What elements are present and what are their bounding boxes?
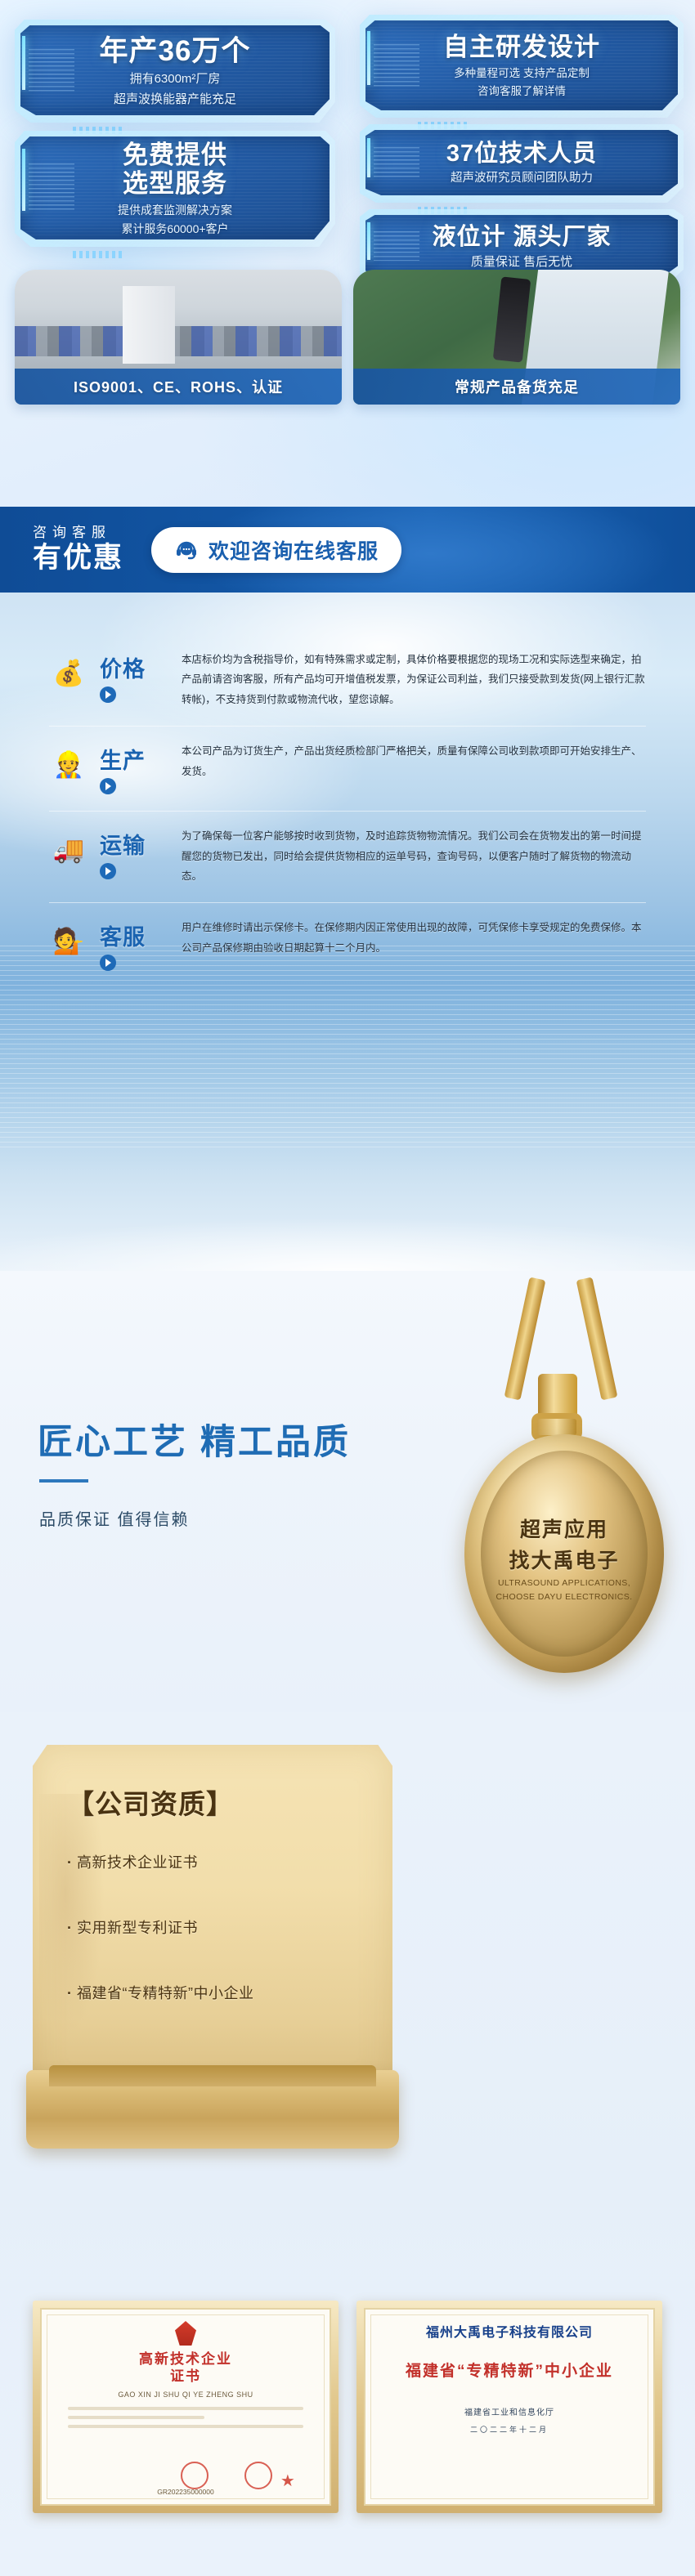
card-subtitle-2: 咨询客服了解详情 <box>478 84 566 99</box>
card-subtitle-1: 拥有6300m²厂房 <box>130 71 221 87</box>
faq-title-block: 运输 <box>100 826 170 879</box>
factory-photo-stock: 常规产品备货充足 <box>353 270 680 405</box>
quality-section: 匠心工艺 精工品质 品质保证 值得信赖 超声应用 找大禹电子 ULTRASOUN… <box>0 1271 695 1712</box>
medal-line-4: CHOOSE DAYU ELECTRONICS. <box>496 1592 633 1602</box>
card-subtitle-2: 累计服务60000+客户 <box>121 221 228 236</box>
faq-body: 为了确保每一位客户能够按时收到货物，及时追踪货物物流情况。我们公司会在货物发出的… <box>182 826 646 886</box>
qualifications-section: 【公司资质】 高新技术企业证书 实用新型专利证书 福建省“专精特新”中小企业 高… <box>0 1712 695 2576</box>
medal-disc: 超声应用 找大禹电子 ULTRASOUND APPLICATIONS, CHOO… <box>464 1434 664 1673</box>
certificate-subtitle: GAO XIN JI SHU QI YE ZHENG SHU <box>118 2390 253 2399</box>
factory-photo-row: ISO9001、CE、ROHS、认证 常规产品备货充足 <box>15 270 680 405</box>
certificate-award-name: 福建省“专精特新”中小企业 <box>406 2359 613 2381</box>
banner-line-2: 有优惠 <box>33 543 123 574</box>
card-title: 年产36万个 <box>100 35 251 67</box>
faq-title-block: 价格 <box>100 650 170 703</box>
customer-service-agent-icon: 💁 <box>49 921 88 960</box>
certificate-title: 高新技术企业 <box>139 2350 232 2368</box>
medal-line-3: ULTRASOUND APPLICATIONS, <box>498 1578 630 1588</box>
faq-body: 本店标价均为含税指导价，如有特殊需求或定制，具体价格要根据您的现场工况和实际选型… <box>182 650 646 709</box>
certificate-stamp-icon <box>181 2462 208 2489</box>
quality-heading: 匠心工艺 精工品质 <box>38 1414 351 1465</box>
factory-photo-certification: ISO9001、CE、ROHS、认证 <box>15 270 342 405</box>
certificate-high-tech: 高新技术企业 证书 GAO XIN JI SHU QI YE ZHENG SHU… <box>33 2301 339 2513</box>
production-worker-icon: 👷 <box>49 745 88 784</box>
highlight-card-technical-staff: 37位技术人员 超声波研究员顾问团队助力 <box>360 124 684 203</box>
photo-caption: 常规产品备货充足 <box>353 369 680 405</box>
card-subtitle-2: 超声波换能器产能充足 <box>114 92 236 108</box>
shopping-info-section: 💰 价格 本店标价均为含税指导价，如有特殊需求或定制，具体价格要根据您的现场工况… <box>0 593 695 1271</box>
card-title: 免费提供 <box>123 141 227 170</box>
play-arrow-icon <box>100 686 116 703</box>
card-title: 自主研发设计 <box>443 34 600 62</box>
certificate-issuer: 福建省工业和信息化厅 <box>464 2405 554 2417</box>
card-title-line2: 选型服务 <box>123 170 227 199</box>
faq-title-block: 客服 <box>100 918 170 971</box>
money-bag-icon: 💰 <box>49 653 88 692</box>
medal-line-2: 找大禹电子 <box>509 1545 619 1574</box>
gold-medal-graphic: 超声应用 找大禹电子 ULTRASOUND APPLICATIONS, CHOO… <box>442 1277 687 1661</box>
certificate-org-name: 福州大禹电子科技有限公司 <box>426 2321 593 2341</box>
highlights-section: 年产36万个 拥有6300m²厂房 超声波换能器产能充足 自主研发设计 多种量程… <box>0 0 695 507</box>
certificate-emblem-icon <box>175 2321 196 2346</box>
play-arrow-icon <box>100 863 116 879</box>
play-arrow-icon <box>100 955 116 971</box>
certificate-date: 二〇二二年十二月 <box>470 2424 549 2435</box>
quality-subheading: 品质保证 值得信赖 <box>39 1506 190 1530</box>
card-subtitle-1: 质量保证 售后无忧 <box>471 254 572 271</box>
faq-item-shipping: 🚚 运输 为了确保每一位客户能够按时收到货物，及时追踪货物物流情况。我们公司会在… <box>49 812 646 903</box>
qualification-item: 福建省“专精特新”中小企业 <box>67 1982 370 2003</box>
card-subtitle-1: 超声波研究员顾问团队助力 <box>451 171 593 186</box>
certificate-title-line2: 证书 <box>170 2368 201 2385</box>
faq-item-production: 👷 生产 本公司产品为订货生产，产品出货经质检部门严格把关，质量有保障公司收到款… <box>49 727 646 812</box>
faq-title-block: 生产 <box>100 741 170 794</box>
certificate-stamp-icon <box>244 2462 272 2489</box>
delivery-truck-icon: 🚚 <box>49 830 88 869</box>
certificate-number: GR202235000000 <box>42 2488 330 2496</box>
qualifications-heading: 【公司资质】 <box>67 1782 234 1822</box>
certificate-row: 高新技术企业 证书 GAO XIN JI SHU QI YE ZHENG SHU… <box>33 2301 662 2513</box>
card-subtitle-1: 多种量程可选 支持产品定制 <box>454 66 590 81</box>
faq-body: 本公司产品为订货生产，产品出货经质检部门严格把关，质量有保障公司收到款项即可开始… <box>182 741 646 781</box>
highlight-card-rnd-design: 自主研发设计 多种量程可选 支持产品定制 咨询客服了解详情 <box>360 15 684 118</box>
faq-title: 价格 <box>100 651 170 683</box>
qualification-item: 实用新型专利证书 <box>67 1916 370 1938</box>
scroll-wooden-base <box>26 2070 399 2149</box>
card-bars-decoration <box>73 251 123 258</box>
qualification-item: 高新技术企业证书 <box>67 1851 370 1872</box>
contact-service-button-label: 欢迎咨询在线客服 <box>208 535 379 565</box>
headset-chat-icon <box>174 538 199 562</box>
qualification-scroll-board: 【公司资质】 高新技术企业证书 实用新型专利证书 福建省“专精特新”中小企业 <box>33 1745 392 2153</box>
banner-text-block: 咨询客服 有优惠 <box>33 525 123 574</box>
card-title: 37位技术人员 <box>446 141 597 167</box>
highlight-card-free-selection-service: 免费提供 选型服务 提供成套监测解决方案 累计服务60000+客户 <box>15 131 335 247</box>
card-subtitle-1: 提供成套监测解决方案 <box>118 203 232 217</box>
card-title: 液位计 源头厂家 <box>432 224 611 250</box>
contact-service-button[interactable]: 欢迎咨询在线客服 <box>151 527 401 573</box>
faq-title: 运输 <box>100 828 170 860</box>
faq-item-aftersales: 💁 客服 用户在维修时请出示保修卡。在保修期内因正常使用出现的故障，可凭保修卡享… <box>49 903 646 987</box>
product-detail-page: 年产36万个 拥有6300m²厂房 超声波换能器产能充足 自主研发设计 多种量程… <box>0 0 695 2576</box>
faq-title: 客服 <box>100 919 170 951</box>
faq-body: 用户在维修时请出示保修卡。在保修期内因正常使用出现的故障，可凭保修卡享受规定的免… <box>182 918 646 958</box>
highlight-card-annual-output: 年产36万个 拥有6300m²厂房 超声波换能器产能充足 <box>15 20 335 123</box>
faq-list: 💰 价格 本店标价均为含税指导价，如有特殊需求或定制，具体价格要根据您的现场工况… <box>49 635 646 987</box>
certificate-body-lines <box>68 2407 304 2434</box>
qualifications-list: 高新技术企业证书 实用新型专利证书 福建省“专精特新”中小企业 <box>67 1851 370 2047</box>
quality-divider <box>39 1479 88 1483</box>
faq-item-price: 💰 价格 本店标价均为含税指导价，如有特殊需求或定制，具体价格要根据您的现场工况… <box>49 635 646 727</box>
certificate-specialized-sme: 福州大禹电子科技有限公司 福建省“专精特新”中小企业 福建省工业和信息化厅 二〇… <box>356 2301 662 2513</box>
customer-service-banner: 咨询客服 有优惠 欢迎咨询在线客服 <box>0 507 695 593</box>
photo-caption: ISO9001、CE、ROHS、认证 <box>15 369 342 405</box>
play-arrow-icon <box>100 778 116 794</box>
medal-line-1: 超声应用 <box>520 1514 608 1543</box>
faq-title: 生产 <box>100 743 170 775</box>
banner-line-1: 咨询客服 <box>33 525 123 540</box>
